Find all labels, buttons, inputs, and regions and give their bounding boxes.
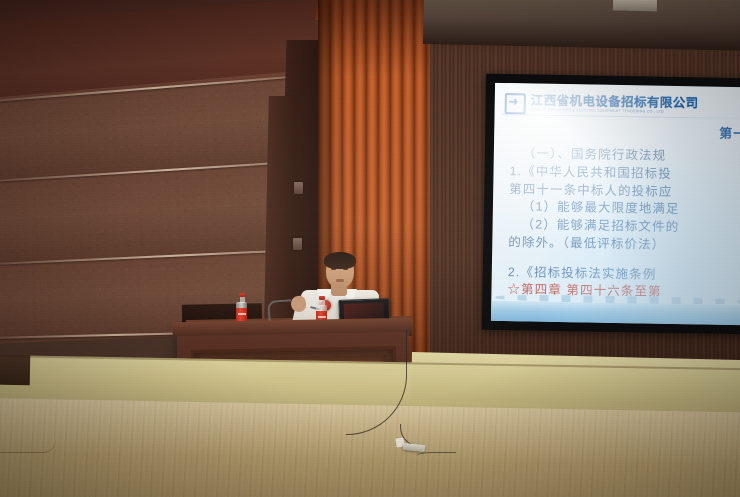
projection-screen-frame: 江西省机电设备招标有限公司 JIANGXI MACHINERY & ELECTR…: [482, 74, 740, 335]
wall-plate: [293, 238, 302, 250]
presenter-eye-right: [343, 268, 348, 270]
conference-hall-photo: 江西省机电设备招标有限公司 JIANGXI MACHINERY & ELECTR…: [0, 0, 740, 497]
cable: [416, 452, 456, 463]
baseboard-band-right: [411, 352, 740, 409]
company-logo-text: 江西省机电设备招标有限公司 JIANGXI MACHINERY & ELECTR…: [531, 95, 699, 116]
projection-screen: 江西省机电设备招标有限公司 JIANGXI MACHINERY & ELECTR…: [491, 83, 740, 325]
presenter-mouth: [336, 279, 344, 282]
wall-plate: [294, 182, 303, 194]
presenter-eye-left: [331, 268, 336, 270]
presenter-hair: [324, 252, 356, 269]
cable: [0, 440, 56, 453]
ceiling-right: [423, 0, 740, 51]
floor-speaker-box: [0, 355, 30, 386]
company-logo-icon: [505, 93, 526, 114]
slide-body: （一）、国务院行政法规 1.《中华人民共和国招标投 第四十一条中标人的投标应 （…: [507, 145, 740, 303]
recessed-ceiling-light-icon: [612, 0, 658, 12]
slide-line: 的除外。（最低评标价法）: [508, 234, 740, 256]
slide-heading: 第一: [719, 123, 740, 142]
slide-footer-band: [491, 301, 740, 326]
